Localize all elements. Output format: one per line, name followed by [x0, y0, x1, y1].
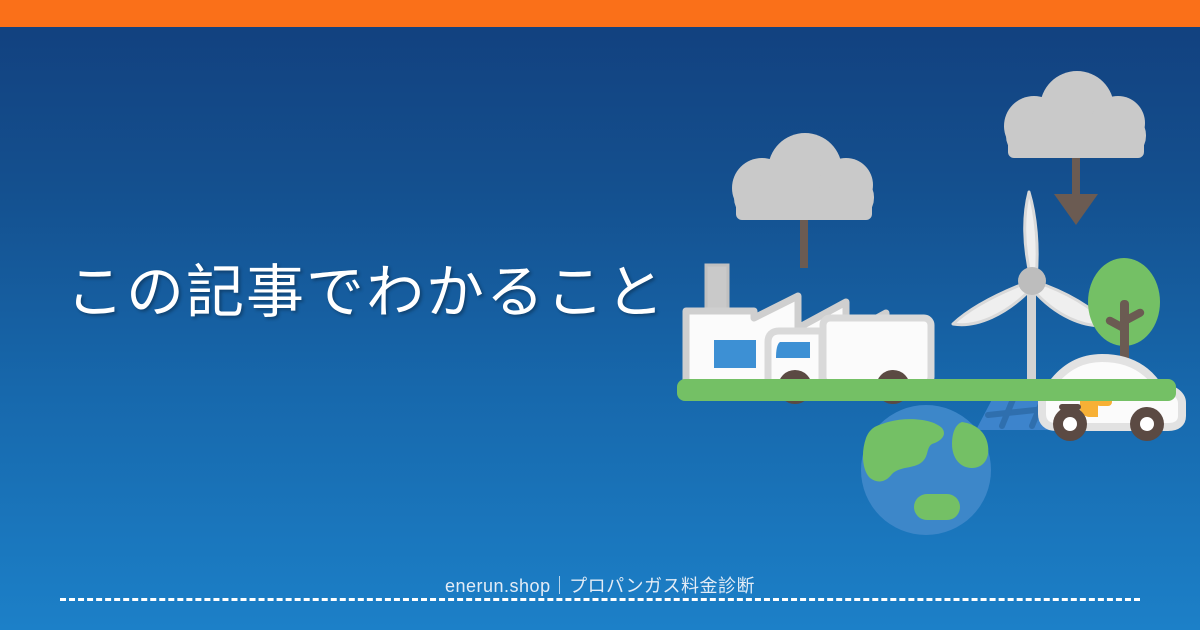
slide-canvas: この記事でわかること [0, 0, 1200, 630]
page-title: この記事でわかること [66, 258, 666, 328]
footer-branding: enerun.shop｜プロパンガス料金診断 [0, 572, 1200, 598]
accent-top-bar [0, 0, 1200, 27]
illustration-container [650, 70, 1200, 550]
footer-divider [60, 598, 1140, 601]
earth-globe-icon [861, 405, 991, 535]
cloud-down-arrow-icon [1004, 71, 1146, 225]
cloud-up-arrow-icon [732, 133, 874, 268]
ground-bar [677, 379, 1176, 401]
